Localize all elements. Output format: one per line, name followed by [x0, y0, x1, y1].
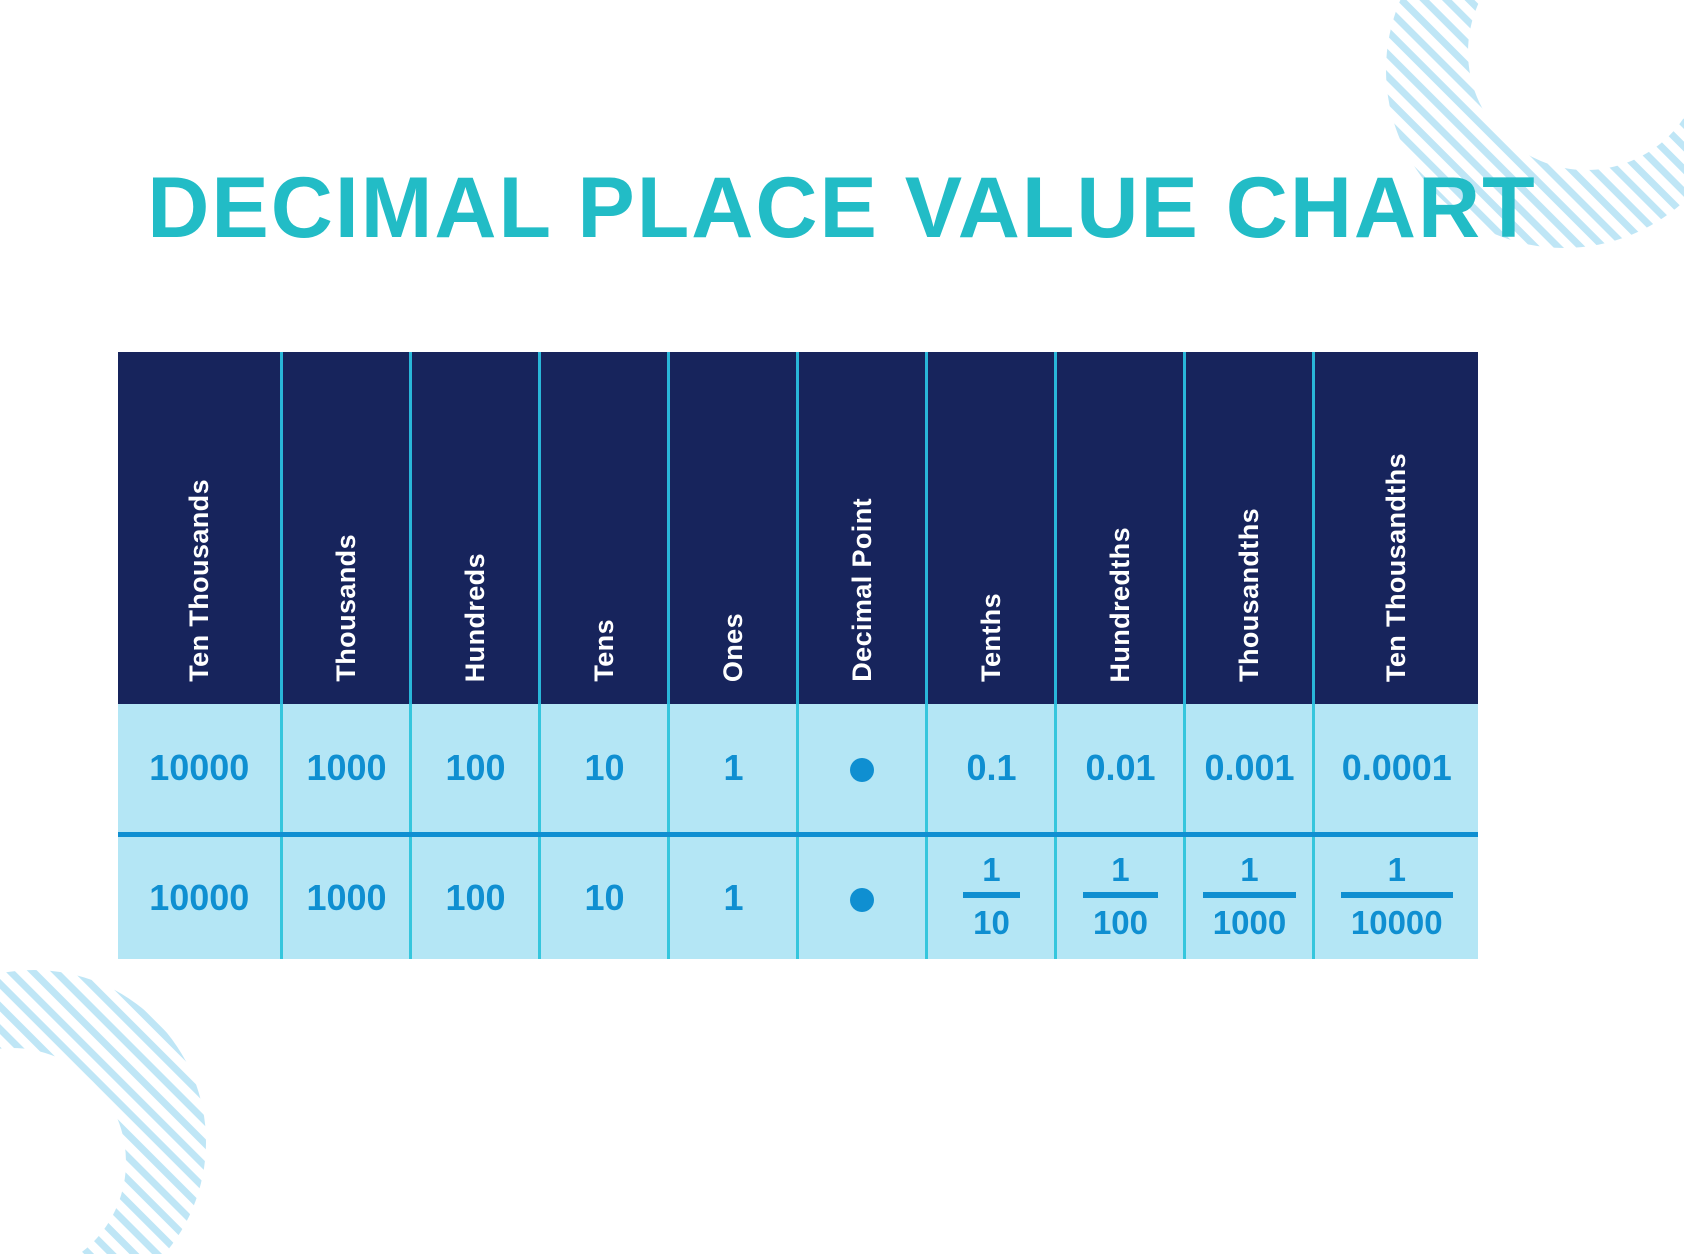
column-header-hundredths: Hundredths	[1056, 352, 1185, 704]
column-header-label: Ten Thousandths	[1381, 453, 1412, 682]
column-header-decimal-point: Decimal Point	[798, 352, 927, 704]
value-cell: 10	[540, 704, 669, 835]
fraction: 110000	[1341, 853, 1453, 939]
page-title: DECIMAL PLACE VALUE CHART	[0, 162, 1684, 255]
column-header-tens: Tens	[540, 352, 669, 704]
fraction-cell: 1100	[1056, 835, 1185, 960]
decimal-point-dot-icon	[798, 835, 927, 960]
value-cell: 100	[411, 704, 540, 835]
fraction-denominator: 100	[1083, 892, 1158, 939]
fraction-numerator: 1	[1341, 853, 1453, 892]
cell-value: 0.001	[1204, 747, 1294, 788]
cell-value: 100	[445, 747, 505, 788]
table-header-row: Ten ThousandsThousandsHundredsTensOnesDe…	[118, 352, 1478, 704]
fraction-denominator: 10000	[1341, 892, 1453, 939]
value-cell: 10000	[118, 704, 282, 835]
column-header-thousands: Thousands	[282, 352, 411, 704]
table-row: 100001000100101110110011000110000	[118, 835, 1478, 960]
fraction-numerator: 1	[963, 853, 1020, 892]
fraction-numerator: 1	[1083, 853, 1158, 892]
column-header-ten-thousandths: Ten Thousandths	[1314, 352, 1478, 704]
value-cell: 0.001	[1185, 704, 1314, 835]
cell-value: 100	[445, 877, 505, 918]
column-header-label: Tenths	[976, 593, 1007, 682]
fraction-cell: 110000	[1314, 835, 1478, 960]
column-header-label: Thousandths	[1234, 508, 1265, 682]
cell-value: 1	[723, 877, 743, 918]
column-header-thousandths: Thousandths	[1185, 352, 1314, 704]
cell-value: 10000	[149, 877, 249, 918]
column-header-label: Ones	[718, 613, 749, 682]
cell-value: 1000	[306, 877, 386, 918]
column-header-label: Thousands	[331, 534, 362, 682]
column-header-label: Hundredths	[1105, 527, 1136, 683]
column-header-ten-thousands: Ten Thousands	[118, 352, 282, 704]
decimal-place-value-table: Ten ThousandsThousandsHundredsTensOnesDe…	[118, 352, 1478, 959]
value-cell: 10	[540, 835, 669, 960]
column-header-label: Decimal Point	[847, 498, 878, 682]
fraction-cell: 110	[927, 835, 1056, 960]
fraction: 11000	[1203, 853, 1296, 939]
cell-value: 1000	[306, 747, 386, 788]
cell-value: 10	[584, 747, 624, 788]
value-cell: 0.0001	[1314, 704, 1478, 835]
fraction-cell: 11000	[1185, 835, 1314, 960]
value-cell: 1000	[282, 835, 411, 960]
decimal-point-dot-icon	[798, 704, 927, 835]
fraction: 110	[963, 853, 1020, 939]
column-header-label: Hundreds	[460, 553, 491, 682]
column-header-hundreds: Hundreds	[411, 352, 540, 704]
column-header-tenths: Tenths	[927, 352, 1056, 704]
cell-value: 10000	[149, 747, 249, 788]
value-cell: 100	[411, 835, 540, 960]
table-row: 1000010001001010.10.010.0010.0001	[118, 704, 1478, 835]
value-cell: 0.1	[927, 704, 1056, 835]
value-cell: 0.01	[1056, 704, 1185, 835]
decimal-point-dot-icon	[850, 888, 874, 912]
cell-value: 1	[723, 747, 743, 788]
cell-value: 0.1	[966, 747, 1016, 788]
value-cell: 1	[669, 704, 798, 835]
fraction-denominator: 10	[963, 892, 1020, 939]
value-cell: 1	[669, 835, 798, 960]
column-header-ones: Ones	[669, 352, 798, 704]
column-header-label: Ten Thousands	[184, 479, 215, 682]
fraction: 1100	[1083, 853, 1158, 939]
value-cell: 10000	[118, 835, 282, 960]
decimal-point-dot-icon	[850, 758, 874, 782]
fraction-denominator: 1000	[1203, 892, 1296, 939]
striped-crescent-bottom-left-decoration	[0, 964, 260, 1254]
cell-value: 0.0001	[1342, 747, 1452, 788]
cell-value: 10	[584, 877, 624, 918]
fraction-numerator: 1	[1203, 853, 1296, 892]
value-cell: 1000	[282, 704, 411, 835]
column-header-label: Tens	[589, 619, 620, 682]
cell-value: 0.01	[1085, 747, 1155, 788]
